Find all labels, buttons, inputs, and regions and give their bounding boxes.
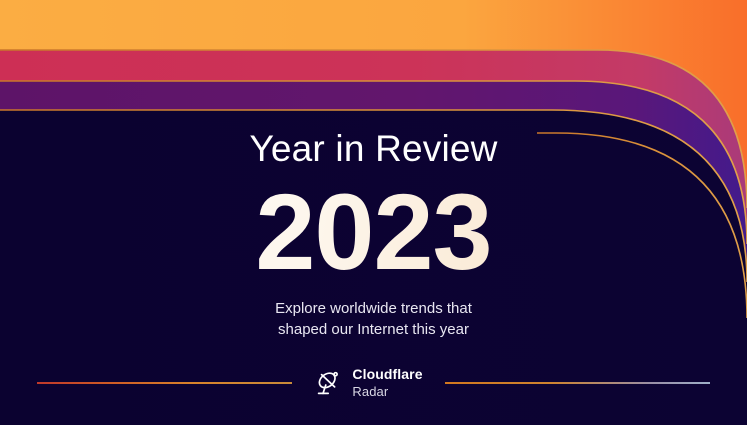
footer-rule-left bbox=[37, 382, 292, 384]
subtitle-line-2: shaped our Internet this year bbox=[0, 319, 747, 340]
cloudflare-radar-logo[interactable]: Cloudflare Radar bbox=[314, 367, 422, 399]
page-eyebrow-title: Year in Review bbox=[227, 127, 519, 171]
logo-brand-name: Cloudflare bbox=[352, 367, 422, 382]
page-title-year: 2023 bbox=[0, 176, 747, 288]
subtitle-line-1: Explore worldwide trends that bbox=[0, 298, 747, 319]
eyebrow-row: Year in Review bbox=[0, 126, 747, 172]
footer-rule-right bbox=[445, 382, 710, 384]
page-subtitle: Explore worldwide trends that shaped our… bbox=[0, 298, 747, 340]
logo-wordmark: Cloudflare Radar bbox=[352, 367, 422, 399]
footer-brand-row: Cloudflare Radar bbox=[0, 362, 747, 404]
logo-product-name: Radar bbox=[352, 384, 422, 399]
satellite-dish-icon bbox=[314, 369, 344, 397]
year-in-review-hero: Year in Review 2023 Explore worldwide tr… bbox=[0, 0, 747, 425]
